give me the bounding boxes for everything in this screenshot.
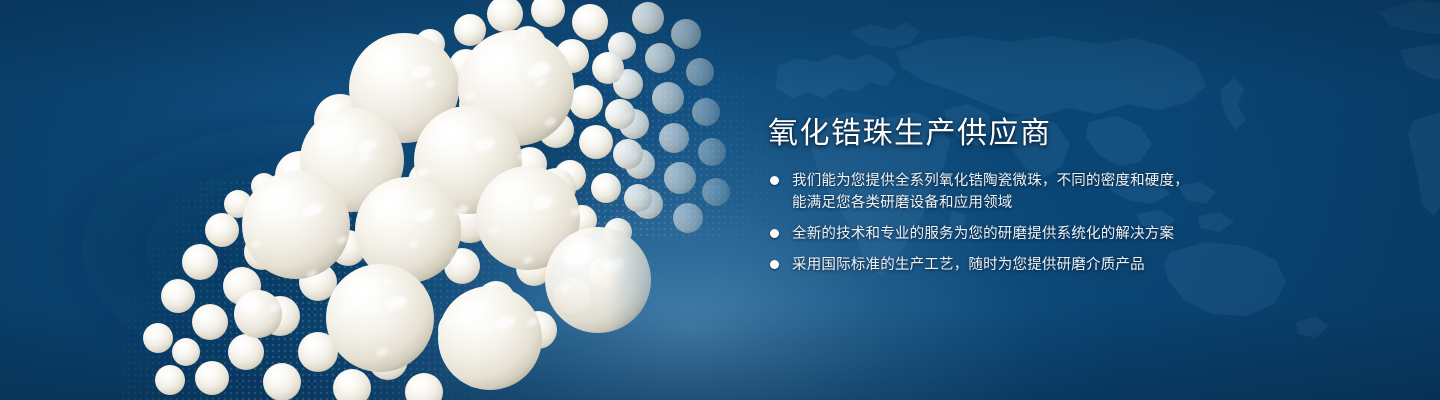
- bullet-line-2: 能满足您各类研磨设备和应用领域: [792, 192, 1189, 214]
- banner-bullet-list: 我们能为您提供全系列氧化锆陶瓷微珠，不同的密度和硬度， 能满足您各类研磨设备和应…: [770, 170, 1390, 276]
- list-item: 全新的技术和专业的服务为您的研磨提供系统化的解决方案: [770, 223, 1390, 245]
- zirconia-beads-image: [0, 0, 760, 400]
- banner-text-panel: 氧化锆珠生产供应商 我们能为您提供全系列氧化锆陶瓷微珠，不同的密度和硬度， 能满…: [768, 0, 1408, 400]
- bullet-line-1: 全新的技术和专业的服务为您的研磨提供系统化的解决方案: [792, 226, 1174, 242]
- banner-title: 氧化锆珠生产供应商: [768, 108, 1052, 152]
- bullet-text: 采用国际标准的生产工艺，随时为您提供研磨介质产品: [792, 254, 1145, 276]
- bullet-dot-icon: [770, 176, 779, 185]
- bullet-dot-icon: [770, 229, 779, 238]
- bullet-line-1: 采用国际标准的生产工艺，随时为您提供研磨介质产品: [792, 257, 1145, 273]
- list-item: 我们能为您提供全系列氧化锆陶瓷微珠，不同的密度和硬度， 能满足您各类研磨设备和应…: [770, 170, 1390, 214]
- hero-banner: 氧化锆珠生产供应商 我们能为您提供全系列氧化锆陶瓷微珠，不同的密度和硬度， 能满…: [0, 0, 1440, 400]
- bullet-line-1: 我们能为您提供全系列氧化锆陶瓷微珠，不同的密度和硬度，: [792, 173, 1189, 189]
- bullet-text: 我们能为您提供全系列氧化锆陶瓷微珠，不同的密度和硬度， 能满足您各类研磨设备和应…: [792, 170, 1189, 214]
- bullet-text: 全新的技术和专业的服务为您的研磨提供系统化的解决方案: [792, 223, 1174, 245]
- list-item: 采用国际标准的生产工艺，随时为您提供研磨介质产品: [770, 254, 1390, 276]
- bullet-dot-icon: [770, 260, 779, 269]
